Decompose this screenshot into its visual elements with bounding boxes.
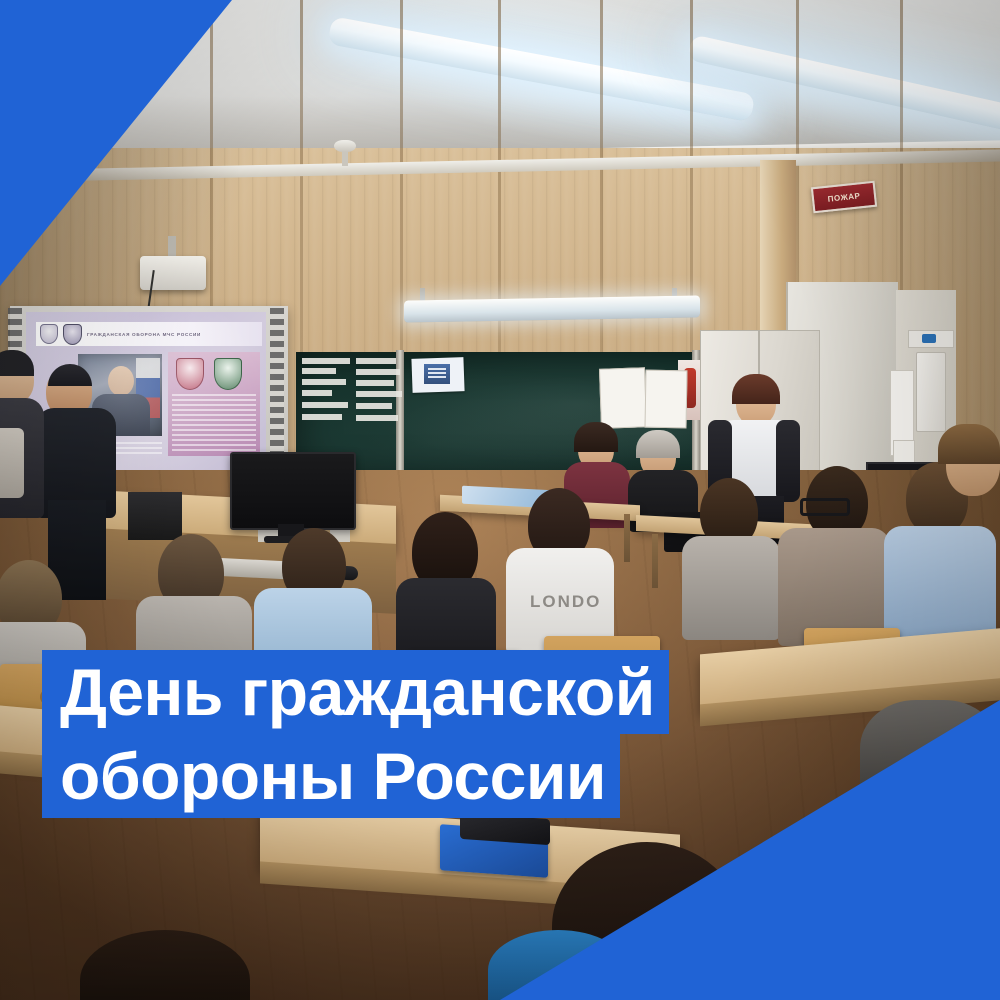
poster-title-line-2: обороны России (42, 734, 620, 818)
paper-strip (356, 391, 402, 397)
wall-notice (644, 370, 687, 429)
mchs-emblem-icon (63, 324, 82, 345)
paper-strip (356, 369, 400, 375)
wall-seam (498, 0, 501, 400)
fire-exit-sign-label: ПОЖАР (827, 191, 860, 203)
wall-device-indicator (922, 334, 936, 343)
hoodie-print: LONDON (530, 592, 600, 610)
slide-header-text: ГРАЖДАНСКАЯ ОБОРОНА МЧС РОССИИ (87, 332, 201, 337)
poster-title: День гражданской обороны России (42, 650, 669, 818)
paper-strip (302, 368, 336, 374)
student-torso (884, 526, 996, 644)
paper-strip (302, 379, 346, 385)
paper-strip (302, 414, 342, 420)
teacher-cardigan-right (776, 420, 800, 502)
student-torso (682, 536, 780, 640)
desk-leg (624, 514, 630, 562)
slide-logo-left-icon (176, 358, 204, 390)
portrait-head (108, 366, 134, 396)
slide-logo-right-icon (214, 358, 242, 390)
paper-strip (356, 358, 396, 364)
wall-seam (400, 0, 403, 400)
poster-canvas: ПОЖАР ГРАЖДАНСКАЯ ОБОРОНА МЧС РОССИИ (0, 0, 1000, 1000)
paper-strip (356, 380, 394, 386)
desk-leg (652, 534, 658, 588)
paper-strip (356, 415, 398, 421)
left-person-sleeve (0, 428, 24, 498)
paper-strip (302, 390, 332, 396)
civil-defense-emblem-icon (40, 324, 58, 344)
paper-strip (356, 403, 392, 409)
wall-seam (600, 0, 603, 400)
wall-seam (300, 0, 303, 400)
slide-body-text-lines (172, 394, 256, 452)
student-hair (938, 424, 1000, 464)
paper-strip (302, 402, 348, 408)
note-diagram-icon (424, 364, 450, 384)
adult-1-hair (574, 422, 618, 452)
smoke-detector-stem (342, 150, 348, 166)
poster-title-line-1: День гражданской (42, 650, 669, 734)
wall-seam (690, 0, 693, 400)
computer-tower (128, 492, 182, 540)
wall-notice (599, 367, 647, 429)
slide-header-bar: ГРАЖДАНСКАЯ ОБОРОНА МЧС РОССИИ (36, 322, 262, 346)
eyeglasses-icon (800, 498, 850, 516)
smoke-detector (334, 140, 356, 152)
desktop-monitor (230, 452, 356, 530)
adult-2-hair (636, 430, 680, 458)
wall-mounted-device (916, 352, 946, 432)
paper-strip (302, 358, 350, 364)
